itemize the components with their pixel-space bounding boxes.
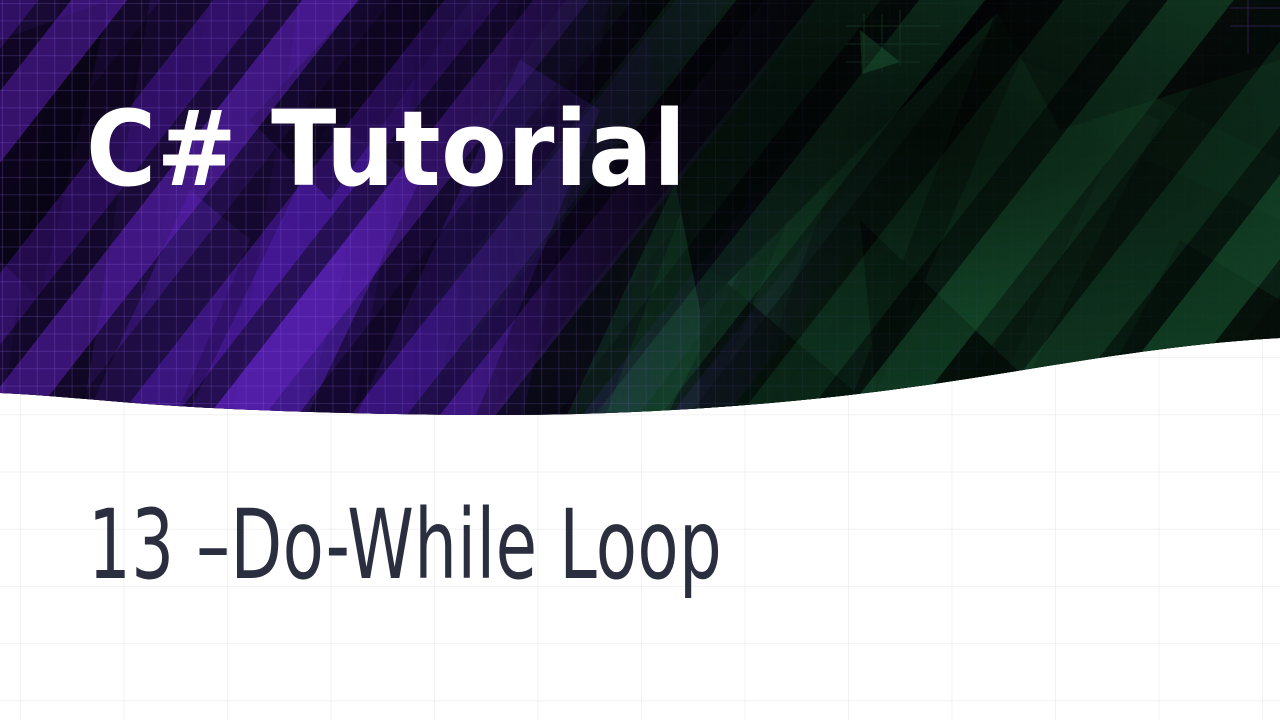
page-title: C# Tutorial — [86, 97, 686, 201]
lesson-subtitle: 13 –Do-While Loop — [88, 495, 722, 596]
title-card: C# Tutorial 13 –Do-While Loop — [0, 0, 1280, 720]
